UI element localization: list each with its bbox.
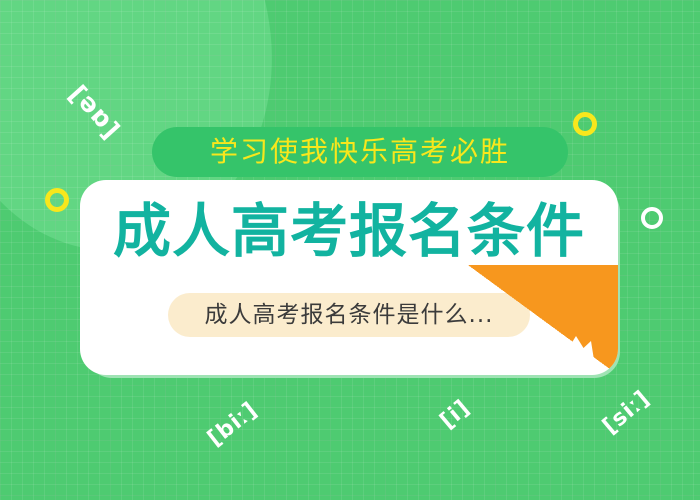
yellow-ring-left-icon: [45, 188, 69, 212]
crown-icon: [556, 333, 596, 363]
phonetic-decoration-bottom-center: [i]: [436, 395, 476, 434]
poster-canvas: [ɑe] [biː] [i] [siː] 学习使我快乐高考必胜 成人高考报名条件…: [0, 0, 700, 500]
top-banner: 学习使我快乐高考必胜: [152, 127, 568, 177]
page-title: 成人高考报名条件: [80, 202, 618, 260]
subtitle-text: 成人高考报名条件是什么...: [205, 304, 494, 327]
main-card: 成人高考报名条件 成人高考报名条件是什么...: [80, 180, 618, 375]
phonetic-decoration-bottom-left: [biː]: [203, 397, 262, 451]
white-ring-right-icon: [641, 207, 663, 229]
yellow-ring-top-right-icon: [573, 112, 597, 136]
top-banner-text: 学习使我快乐高考必胜: [210, 138, 510, 166]
phonetic-decoration-bottom-right: [siː]: [598, 386, 655, 439]
